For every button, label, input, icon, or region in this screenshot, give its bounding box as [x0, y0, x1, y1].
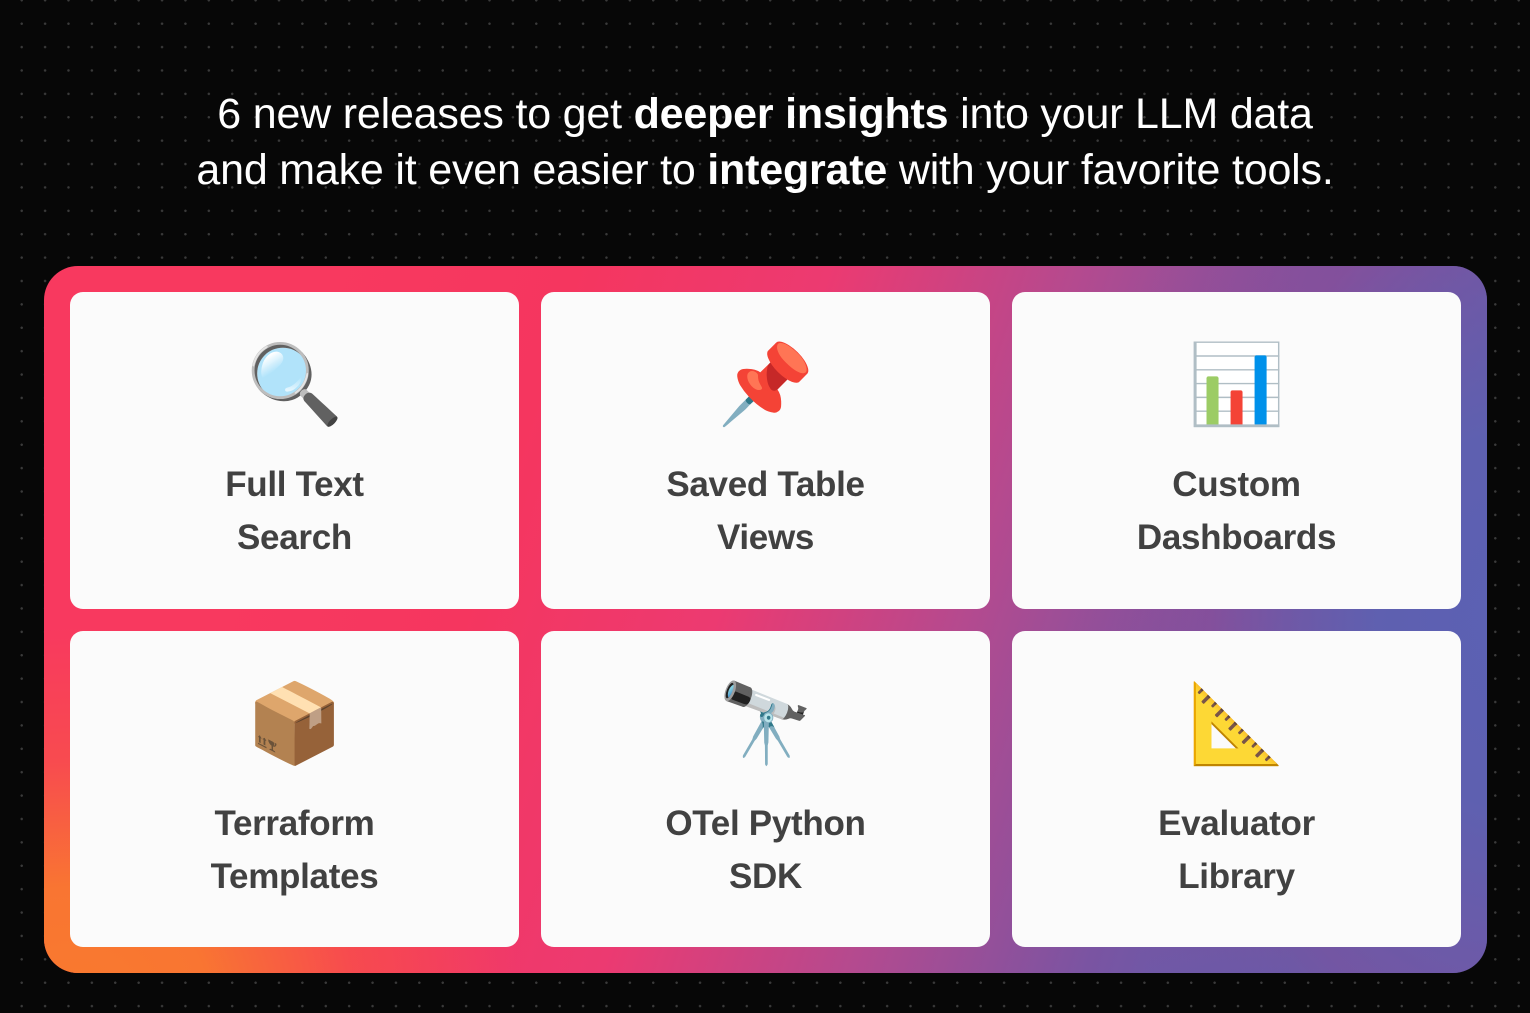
- feature-card-terraform-templates[interactable]: 📦 Terraform Templates: [70, 631, 519, 948]
- telescope-icon: 🔭: [717, 671, 814, 775]
- pushpin-icon: 📌: [717, 332, 814, 436]
- gradient-frame: 🔍 Full Text Search 📌 Saved Table Views 📊…: [44, 266, 1487, 973]
- headline-text: with your favorite tools.: [887, 146, 1334, 194]
- feature-card-label: Custom Dashboards: [1137, 458, 1336, 564]
- package-box-icon: 📦: [246, 671, 343, 775]
- headline-emphasis: deeper insights: [634, 90, 949, 138]
- bar-chart-icon: 📊: [1188, 332, 1285, 436]
- feature-card-label: Full Text Search: [225, 458, 364, 564]
- headline-emphasis: integrate: [707, 146, 887, 194]
- feature-card-label: Evaluator Library: [1158, 797, 1315, 903]
- feature-card-grid: 🔍 Full Text Search 📌 Saved Table Views 📊…: [70, 292, 1461, 947]
- feature-card-custom-dashboards[interactable]: 📊 Custom Dashboards: [1012, 292, 1461, 609]
- headline-text: 6 new releases to get: [217, 90, 633, 138]
- feature-card-full-text-search[interactable]: 🔍 Full Text Search: [70, 292, 519, 609]
- headline-line-2: and make it even easier to integrate wit…: [196, 146, 1333, 194]
- magnifying-glass-icon: 🔍: [246, 332, 343, 436]
- feature-card-label: OTel Python SDK: [665, 797, 865, 903]
- feature-card-evaluator-library[interactable]: 📐 Evaluator Library: [1012, 631, 1461, 948]
- headline-line-1: 6 new releases to get deeper insights in…: [217, 90, 1312, 138]
- feature-card-saved-table-views[interactable]: 📌 Saved Table Views: [541, 292, 990, 609]
- feature-card-otel-python-sdk[interactable]: 🔭 OTel Python SDK: [541, 631, 990, 948]
- triangular-ruler-icon: 📐: [1188, 671, 1285, 775]
- headline-text: and make it even easier to: [196, 146, 707, 194]
- page-headline: 6 new releases to get deeper insights in…: [0, 86, 1530, 198]
- feature-card-label: Terraform Templates: [211, 797, 379, 903]
- feature-card-label: Saved Table Views: [666, 458, 864, 564]
- headline-text: into your LLM data: [948, 90, 1312, 138]
